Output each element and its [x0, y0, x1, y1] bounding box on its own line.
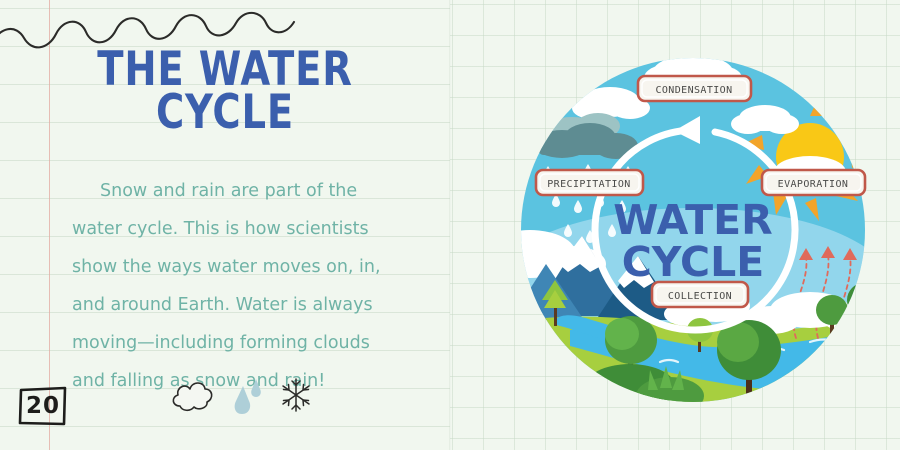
left-page: THE WATER CYCLE Snow and rain are part o…: [0, 0, 450, 450]
label-evaporation-text: EVAPORATION: [778, 179, 849, 190]
title-line-2: CYCLE: [41, 91, 410, 134]
page-number-left: 20: [18, 385, 68, 427]
page-number-left-text: 20: [26, 393, 60, 419]
label-collection[interactable]: COLLECTION: [652, 282, 748, 307]
label-precipitation[interactable]: PRECIPITATION: [536, 170, 643, 195]
diagram-center-title-line2: CYCLE: [622, 238, 765, 286]
book-spread: THE WATER CYCLE Snow and rain are part o…: [0, 0, 900, 450]
snowflake-icon: [278, 375, 314, 415]
weather-icon-row: [168, 372, 328, 417]
cloud-icon: [168, 375, 216, 415]
tree-right-tall: [847, 283, 880, 332]
body-paragraph: Snow and rain are part of the water cycl…: [72, 172, 402, 400]
label-condensation-text: CONDENSATION: [655, 85, 732, 96]
label-condensation[interactable]: CONDENSATION: [638, 76, 751, 101]
page-title: THE WATER CYCLE: [41, 48, 410, 134]
right-page: WATER CYCLE CONDENSATION PRECIPITATION E…: [450, 0, 900, 450]
diagram-center-title-line1: WATER: [613, 196, 772, 244]
label-collection-text: COLLECTION: [668, 291, 732, 302]
water-cycle-diagram: WATER CYCLE CONDENSATION PRECIPITATION E…: [510, 58, 880, 403]
raindrop-icon: [230, 374, 264, 416]
label-evaporation[interactable]: EVAPORATION: [762, 170, 865, 195]
label-precipitation-text: PRECIPITATION: [547, 179, 630, 190]
book-seam: [449, 0, 451, 450]
